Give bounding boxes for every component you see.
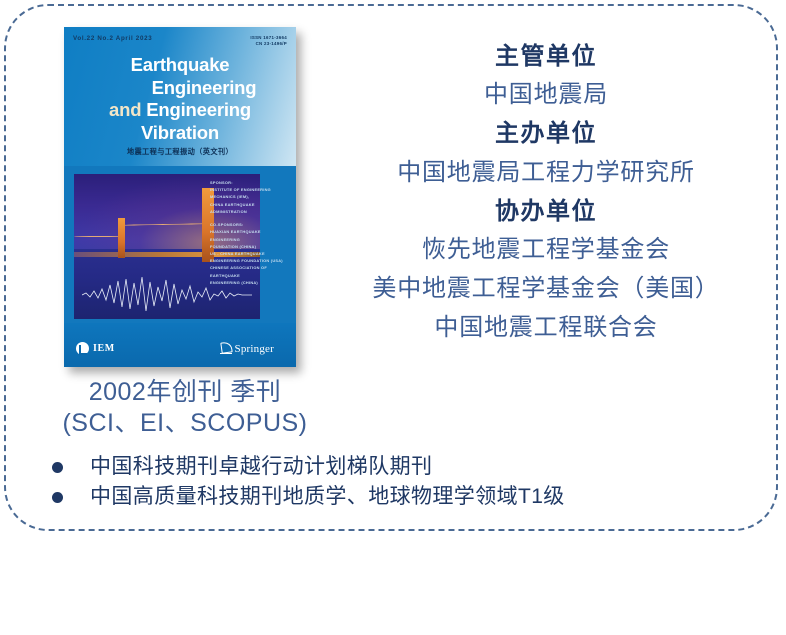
iem-logo: IEM bbox=[76, 342, 115, 355]
cosponsor-line-5: ENGINEERING (CHINA) bbox=[210, 279, 290, 286]
cover-header-band: Vol.22 No.2 April 2023 ISSN 1671-3664 CN… bbox=[64, 27, 296, 166]
journal-founding-line: 2002年创刊 季刊 bbox=[40, 377, 330, 408]
honor-label-1: 中国科技期刊卓越行动计划梯队期刊 bbox=[90, 452, 432, 482]
cover-issn-label: ISSN 1671-3664 CN 23-1496/P bbox=[250, 35, 287, 48]
list-item: 中国高质量科技期刊地质学、地球物理学领域T1级 bbox=[52, 482, 742, 512]
cover-header-row: Vol.22 No.2 April 2023 ISSN 1671-3664 CN… bbox=[64, 35, 296, 48]
org-value-supervisor: 中国地震局 bbox=[320, 76, 772, 115]
cover-title-line-3-b: Engineering bbox=[146, 99, 251, 120]
cover-title-line-4: Vibration bbox=[64, 122, 296, 145]
cover-title-line-2: Engineering bbox=[64, 77, 296, 100]
cosponsor-label: CO-SPONSORS: bbox=[210, 221, 290, 228]
bullet-icon bbox=[52, 462, 63, 473]
sponsor-line-0: INSTITUTE OF ENGINEERING bbox=[210, 186, 290, 193]
springer-logo: Springer bbox=[220, 342, 274, 355]
journal-indexing-line: (SCI、EI、SCOPUS) bbox=[40, 408, 330, 439]
list-item: 中国科技期刊卓越行动计划梯队期刊 bbox=[52, 452, 742, 482]
springer-knight-icon bbox=[220, 342, 232, 355]
org-value-coorganizer-2: 美中地震工程学基金会（美国） bbox=[320, 270, 772, 309]
organization-column: 主管单位 中国地震局 主办单位 中国地震局工程力学研究所 协办单位 恢先地震工程… bbox=[320, 38, 772, 348]
cosponsor-line-2: US - CHINA EARTHQUAKE bbox=[210, 250, 290, 257]
sponsor-label: SPONSOR: bbox=[210, 179, 290, 186]
issn-line-2: CN 23-1496/P bbox=[250, 41, 287, 47]
org-value-organizer: 中国地震局工程力学研究所 bbox=[320, 154, 772, 193]
journal-meta-text: 2002年创刊 季刊 (SCI、EI、SCOPUS) bbox=[40, 377, 330, 438]
cover-sponsor-text: SPONSOR: INSTITUTE OF ENGINEERING MECHAN… bbox=[210, 179, 290, 292]
springer-logo-label: Springer bbox=[235, 343, 274, 355]
cover-title-line-3-a: and bbox=[109, 99, 146, 120]
cosponsor-block: CO-SPONSORS: HUAXIAN EARTHQUAKE ENGINEER… bbox=[210, 221, 290, 286]
cover-volume-label: Vol.22 No.2 April 2023 bbox=[73, 35, 152, 42]
cosponsor-line-3: ENGINEERING FOUNDATION (USA) bbox=[210, 257, 290, 264]
bridge-cable-side bbox=[74, 236, 124, 237]
cover-title-line-3: and Engineering bbox=[64, 99, 296, 122]
cosponsor-line-1: FOUNDATION (CHINA) bbox=[210, 243, 290, 250]
bridge-tower-far bbox=[118, 218, 125, 258]
org-heading-supervisor: 主管单位 bbox=[320, 38, 772, 76]
org-heading-organizer: 主办单位 bbox=[320, 115, 772, 153]
honor-label-2: 中国高质量科技期刊地质学、地球物理学领域T1级 bbox=[90, 482, 565, 512]
cover-subtitle-chinese: 地震工程与工程振动（英文刊） bbox=[64, 147, 296, 157]
org-heading-coorganizer: 协办单位 bbox=[320, 193, 772, 231]
sponsor-line-2: CHINA EARTHQUAKE ADMINISTRATION bbox=[210, 201, 290, 215]
cosponsor-line-0: HUAXIAN EARTHQUAKE ENGINEERING bbox=[210, 228, 290, 242]
iem-emblem-icon bbox=[76, 342, 89, 355]
org-value-coorganizer-1: 恢先地震工程学基金会 bbox=[320, 231, 772, 270]
sponsor-block: SPONSOR: INSTITUTE OF ENGINEERING MECHAN… bbox=[210, 179, 290, 215]
iem-logo-label: IEM bbox=[93, 343, 115, 354]
honors-list: 中国科技期刊卓越行动计划梯队期刊 中国高质量科技期刊地质学、地球物理学领域T1级 bbox=[52, 452, 742, 513]
journal-cover-image: Vol.22 No.2 April 2023 ISSN 1671-3664 CN… bbox=[64, 27, 296, 367]
sponsor-line-1: MECHANICS (IEM), bbox=[210, 193, 290, 200]
cover-title: Earthquake Engineering and Engineering V… bbox=[64, 54, 296, 144]
cosponsor-line-4: CHINESE ASSOCIATION OF EARTHQUAKE bbox=[210, 264, 290, 278]
org-value-coorganizer-3: 中国地震工程联合会 bbox=[320, 309, 772, 348]
bullet-icon bbox=[52, 492, 63, 503]
cover-title-line-1: Earthquake bbox=[64, 54, 296, 77]
